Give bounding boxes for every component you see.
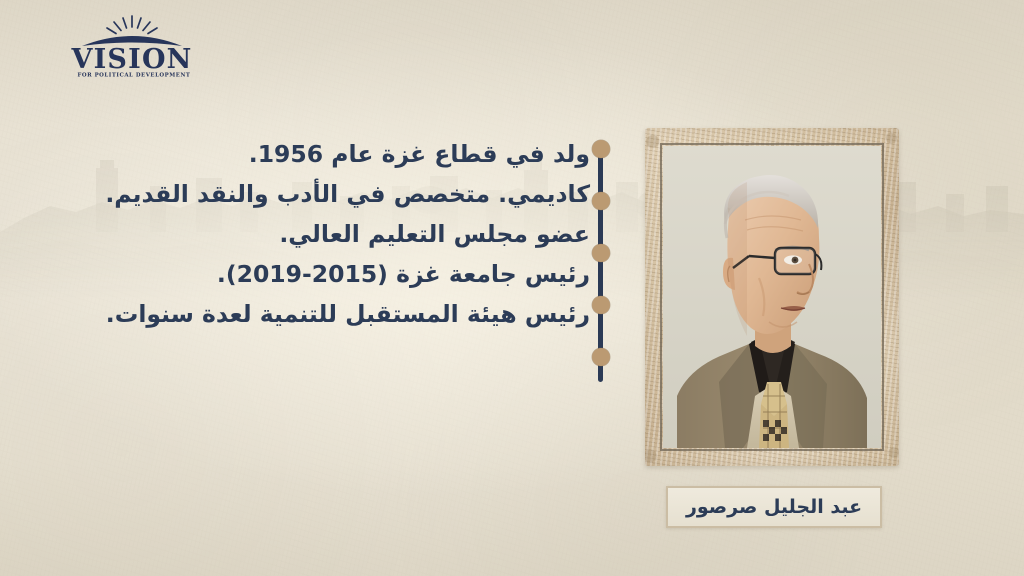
logo-tagline: FOR POLITICAL DEVELOPMENT [78,73,191,79]
bio-text-block: ولد في قطاع غزة عام 1956. كاديمي. متخصص … [70,134,590,334]
timeline-dot [592,296,610,314]
logo-wordmark: VISION [70,44,192,75]
bio-line: ولد في قطاع غزة عام 1956. [70,134,590,174]
timeline-dot [592,348,610,366]
timeline-dot [592,192,610,210]
name-plate: عبد الجليل صرصور [666,486,882,528]
bio-line: كاديمي. متخصص في الأدب والنقد القديم. [70,174,590,214]
timeline-dot [592,140,610,158]
portrait-photo [663,146,881,448]
timeline-dot [592,244,610,262]
person-name: عبد الجليل صرصور [686,496,862,518]
bio-line: رئيس جامعة غزة (2015-2019). [70,254,590,294]
portrait-frame [645,128,899,466]
timeline-rail [592,140,610,382]
bio-line: رئيس هيئة المستقبل للتنمية لعدة سنوات. [70,294,590,334]
timeline-line [598,146,603,382]
vision-logo[interactable]: VISION FOR POLITICAL DEVELOPMENT [66,12,198,80]
bio-line: عضو مجلس التعليم العالي. [70,214,590,254]
slide-canvas: VISION FOR POLITICAL DEVELOPMENT ولد في … [0,0,1024,576]
